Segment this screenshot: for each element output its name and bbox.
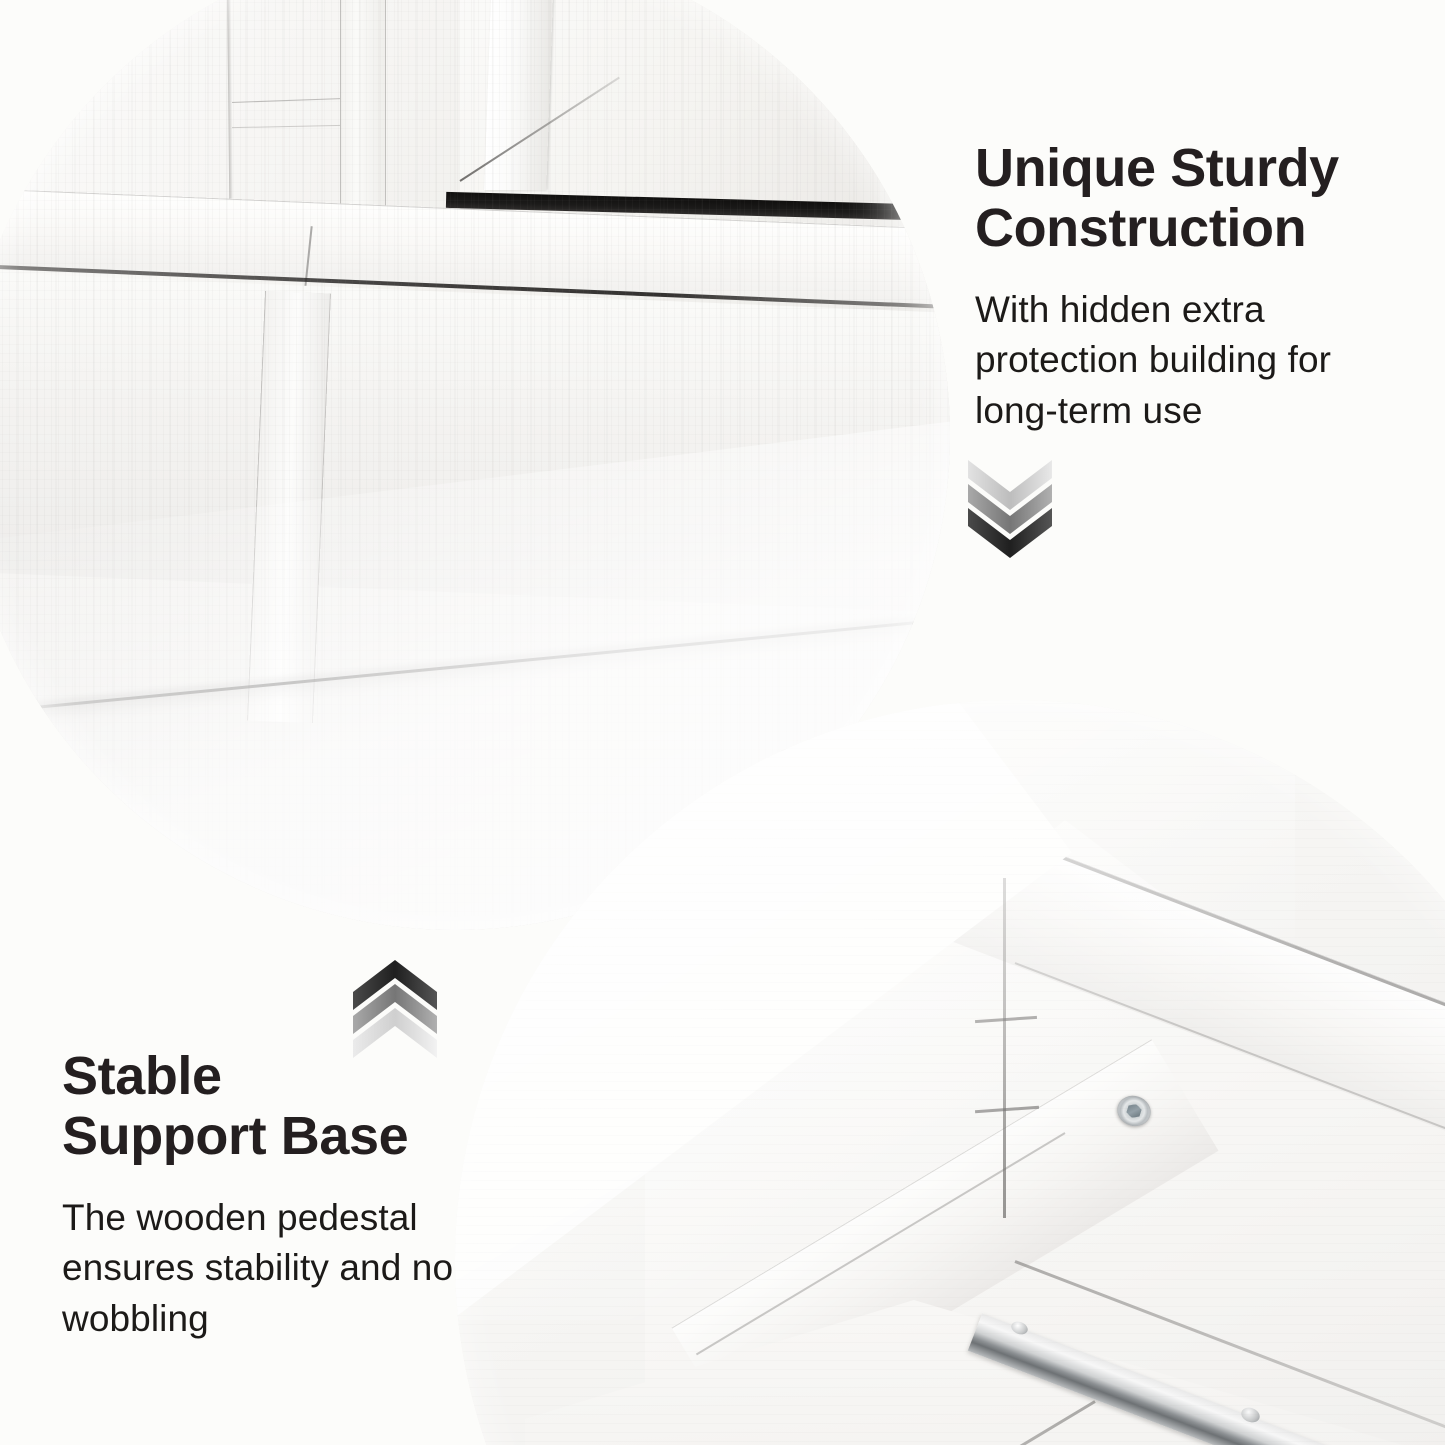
chevron-up-triple-icon [347, 960, 443, 1060]
photo-scene [455, 700, 1445, 1445]
inner-corner-seam [1003, 878, 1006, 1218]
feature-headline: Stable Support Base [62, 1046, 512, 1167]
corner-bracket-photo [455, 700, 1445, 1445]
feature-subtext: The wooden pedestal ensures stability an… [62, 1193, 512, 1344]
chevron-down-triple-icon [962, 458, 1058, 558]
feature-headline-line-2: Support Base [62, 1106, 408, 1166]
feature-block-stable-support-base: Stable Support Base The wooden pedestal … [62, 1046, 512, 1344]
feature-headline-line-2: Construction [975, 198, 1306, 258]
feature-block-unique-sturdy-construction: Unique Sturdy Construction With hidden e… [975, 138, 1405, 436]
drawer-pull-bevel [484, 0, 558, 190]
feature-headline-line-1: Stable [62, 1046, 222, 1106]
product-feature-infographic: Unique Sturdy Construction With hidden e… [0, 0, 1445, 1445]
feature-headline-line-1: Unique Sturdy [975, 138, 1339, 198]
plinth-body [0, 270, 950, 614]
feature-subtext: With hidden extra protection building fo… [975, 285, 1405, 436]
feature-headline: Unique Sturdy Construction [975, 138, 1405, 259]
